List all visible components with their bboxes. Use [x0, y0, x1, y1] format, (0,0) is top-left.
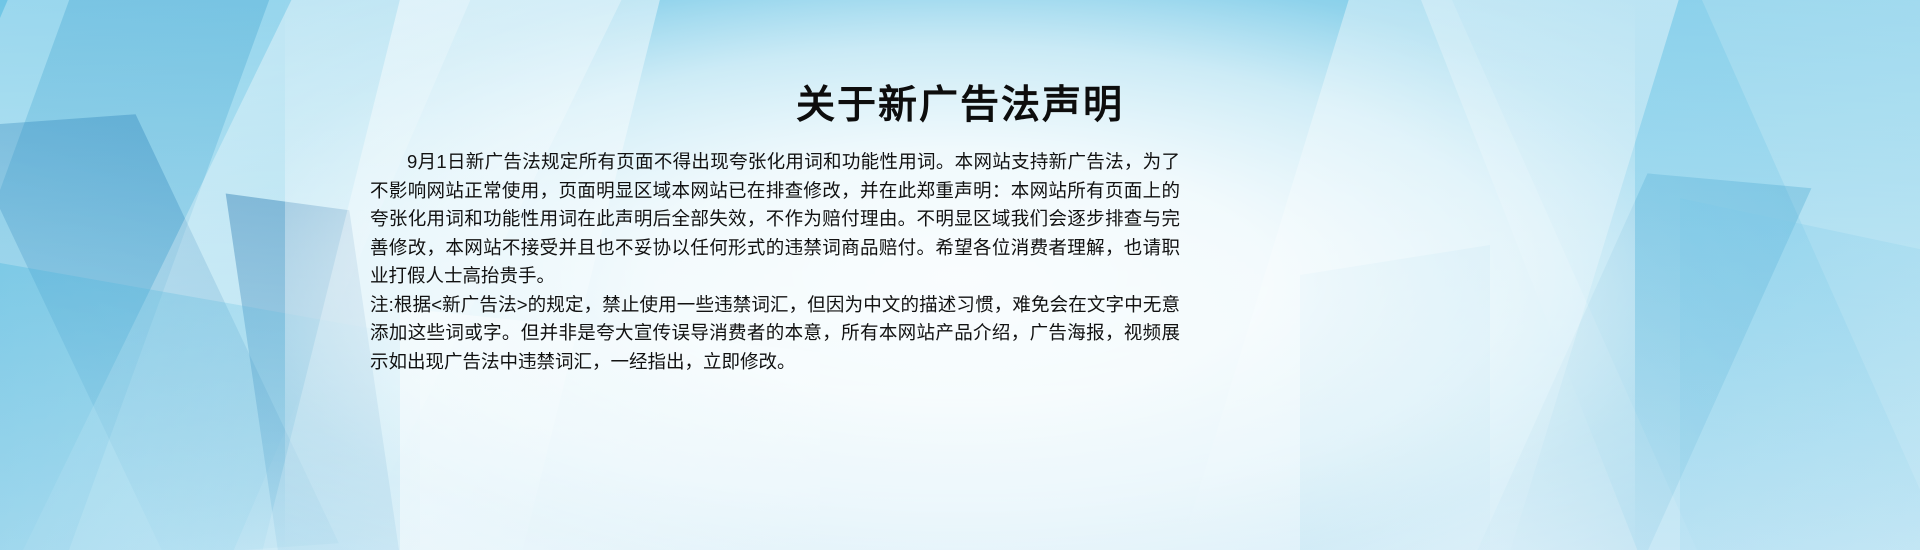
advertising-law-statement-banner: 关于新广告法声明 9月1日新广告法规定所有页面不得出现夸张化用词和功能性用词。本…: [0, 0, 1920, 550]
page-title: 关于新广告法声明: [0, 82, 1920, 130]
statement-paragraph-2: 注:根据<新广告法>的规定，禁止使用一些违禁词汇，但因为中文的描述习惯，难免会在…: [370, 291, 1180, 377]
statement-body: 9月1日新广告法规定所有页面不得出现夸张化用词和功能性用词。本网站支持新广告法，…: [370, 148, 1180, 376]
banner-content: 关于新广告法声明 9月1日新广告法规定所有页面不得出现夸张化用词和功能性用词。本…: [0, 0, 1920, 550]
statement-paragraph-1: 9月1日新广告法规定所有页面不得出现夸张化用词和功能性用词。本网站支持新广告法，…: [370, 148, 1180, 291]
